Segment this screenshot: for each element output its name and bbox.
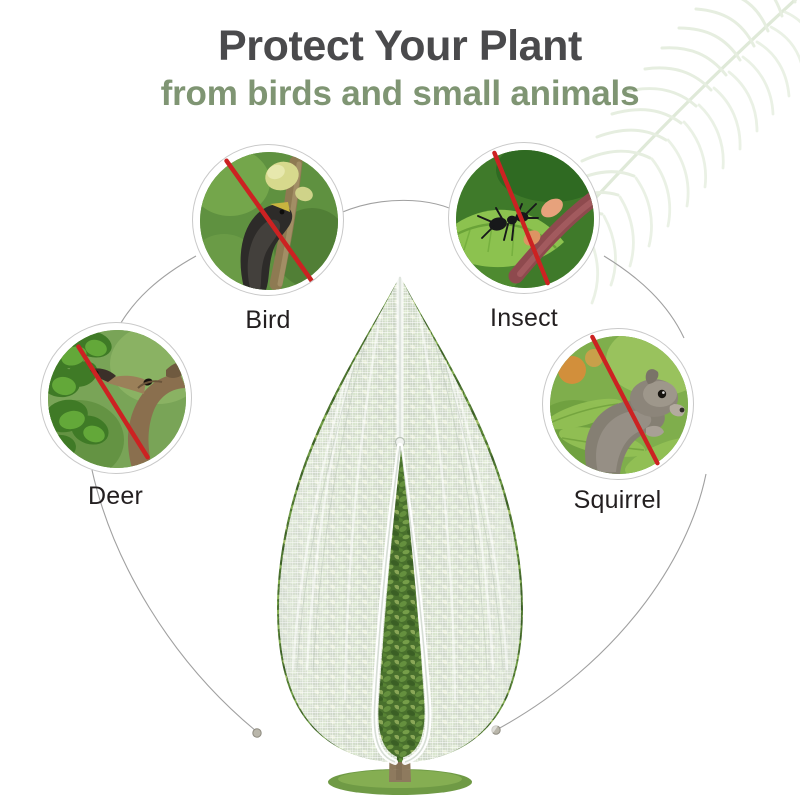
callout-bird[interactable]: Bird bbox=[188, 144, 348, 344]
ant-on-leaf-photo bbox=[456, 150, 594, 288]
callout-insect-ring bbox=[448, 142, 600, 294]
product-marketing-poster: Protect Your Plant from birds and small … bbox=[0, 0, 800, 800]
callout-bird-label: Bird bbox=[188, 306, 348, 335]
callout-squirrel[interactable]: Squirrel bbox=[530, 328, 705, 528]
headline-block: Protect Your Plant from birds and small … bbox=[0, 22, 800, 114]
callout-deer-label: Deer bbox=[33, 482, 198, 511]
callout-deer[interactable]: Deer bbox=[33, 322, 198, 522]
product-image bbox=[255, 270, 545, 800]
callout-insect[interactable]: Insect bbox=[444, 142, 604, 342]
bird-on-branch-photo bbox=[200, 152, 338, 290]
squirrel-on-branch-photo bbox=[550, 336, 688, 474]
callout-squirrel-ring bbox=[542, 328, 694, 480]
page-title: Protect Your Plant bbox=[0, 22, 800, 70]
callout-squirrel-label: Squirrel bbox=[530, 486, 705, 515]
callout-bird-ring bbox=[192, 144, 344, 296]
deer-eating-leaves-photo bbox=[48, 330, 186, 468]
callout-deer-ring bbox=[40, 322, 192, 474]
page-subtitle: from birds and small animals bbox=[0, 74, 800, 114]
